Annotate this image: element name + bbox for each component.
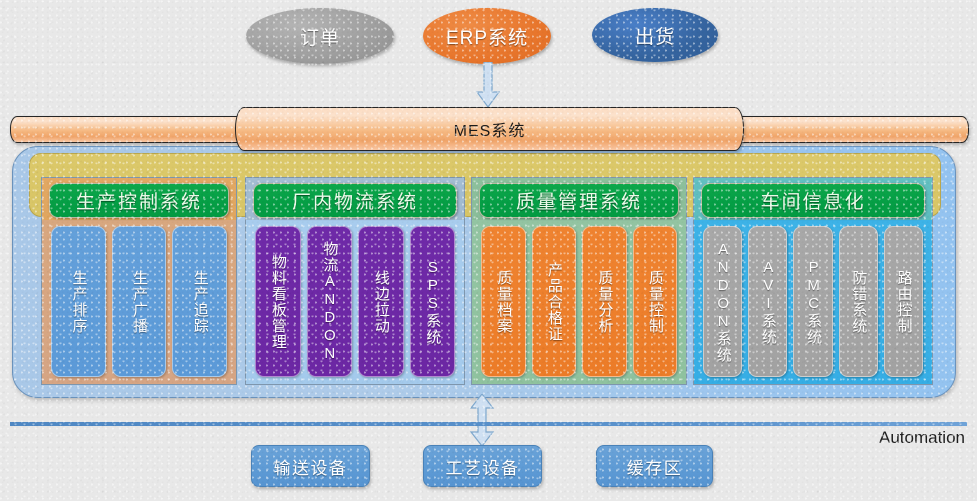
arrow-updown-icon-mes-to-equipment [466,394,498,446]
node-process-equipment[interactable]: 工艺设备 [423,445,542,487]
card-material-kanban-management[interactable]: 物料看板管理 [255,226,301,377]
group-production-control-header: 生产控制系统 [42,178,236,220]
group-in-plant-logistics-cards: 物料看板管理 物流ANDON 线边拉动 SPS系统 [246,220,464,384]
card-pmc-system[interactable]: PMC系统 [793,226,832,377]
card-quality-analysis[interactable]: 质量分析 [582,226,627,377]
card-routing-control[interactable]: 路由控制 [884,226,923,377]
card-quality-archive[interactable]: 质量档案 [481,226,526,377]
card-production-broadcast[interactable]: 生产广播 [112,226,167,377]
group-quality-management[interactable]: 质量管理系统 质量档案 产品合格证 质量分析 质量控制 [471,177,687,385]
mes-bar-left-extension [10,116,252,143]
node-process-equipment-label: 工艺设备 [446,454,520,479]
card-avi-system[interactable]: AVI系统 [748,226,787,377]
group-in-plant-logistics-title: 厂内物流系统 [253,183,457,218]
automation-divider-line [10,422,967,426]
mes-modules-container: 生产控制系统 生产排序 生产广播 生产追踪 厂内物流系统 物料看板管理 物流AN… [12,146,956,398]
node-buffer-zone[interactable]: 缓存区 [596,445,713,487]
card-line-side-pull[interactable]: 线边拉动 [358,226,404,377]
card-logistics-andon[interactable]: 物流ANDON [307,226,353,377]
node-conveying-equipment[interactable]: 输送设备 [251,445,370,487]
card-production-tracking[interactable]: 生产追踪 [172,226,227,377]
group-workshop-informatization[interactable]: 车间信息化 ANDON系统 AVI系统 PMC系统 防错系统 路由控制 [693,177,933,385]
node-buffer-zone-label: 缓存区 [627,454,683,479]
card-product-certificate[interactable]: 产品合格证 [532,226,577,377]
card-quality-control[interactable]: 质量控制 [633,226,678,377]
group-workshop-informatization-cards: ANDON系统 AVI系统 PMC系统 防错系统 路由控制 [694,220,932,384]
mes-bar[interactable]: MES系统 [10,107,967,149]
group-quality-management-title: 质量管理系统 [479,183,679,218]
node-erp-label: ERP系统 [446,23,528,50]
automation-label: Automation [879,428,965,448]
node-erp[interactable]: ERP系统 [423,8,551,64]
group-workshop-informatization-title: 车间信息化 [701,183,925,218]
card-andon-system[interactable]: ANDON系统 [703,226,742,377]
group-production-control-title: 生产控制系统 [49,183,229,218]
card-sps-system[interactable]: SPS系统 [410,226,456,377]
node-order-label: 订单 [300,23,340,50]
group-quality-management-header: 质量管理系统 [472,178,686,220]
card-production-sequencing[interactable]: 生产排序 [51,226,106,377]
arrow-down-icon-erp-to-mes [473,62,503,110]
group-workshop-informatization-header: 车间信息化 [694,178,932,220]
group-quality-management-cards: 质量档案 产品合格证 质量分析 质量控制 [472,220,686,384]
node-order[interactable]: 订单 [246,8,394,64]
card-error-proofing-system[interactable]: 防错系统 [839,226,878,377]
mes-label: MES系统 [454,117,526,141]
mes-bar-right-extension [727,116,969,143]
node-shipment[interactable]: 出货 [592,8,718,62]
group-production-control[interactable]: 生产控制系统 生产排序 生产广播 生产追踪 [41,177,237,385]
group-in-plant-logistics-header: 厂内物流系统 [246,178,464,220]
mes-bar-main[interactable]: MES系统 [235,107,744,151]
node-conveying-equipment-label: 输送设备 [274,454,348,479]
node-shipment-label: 出货 [635,22,675,49]
group-production-control-cards: 生产排序 生产广播 生产追踪 [42,220,236,384]
group-in-plant-logistics[interactable]: 厂内物流系统 物料看板管理 物流ANDON 线边拉动 SPS系统 [245,177,465,385]
